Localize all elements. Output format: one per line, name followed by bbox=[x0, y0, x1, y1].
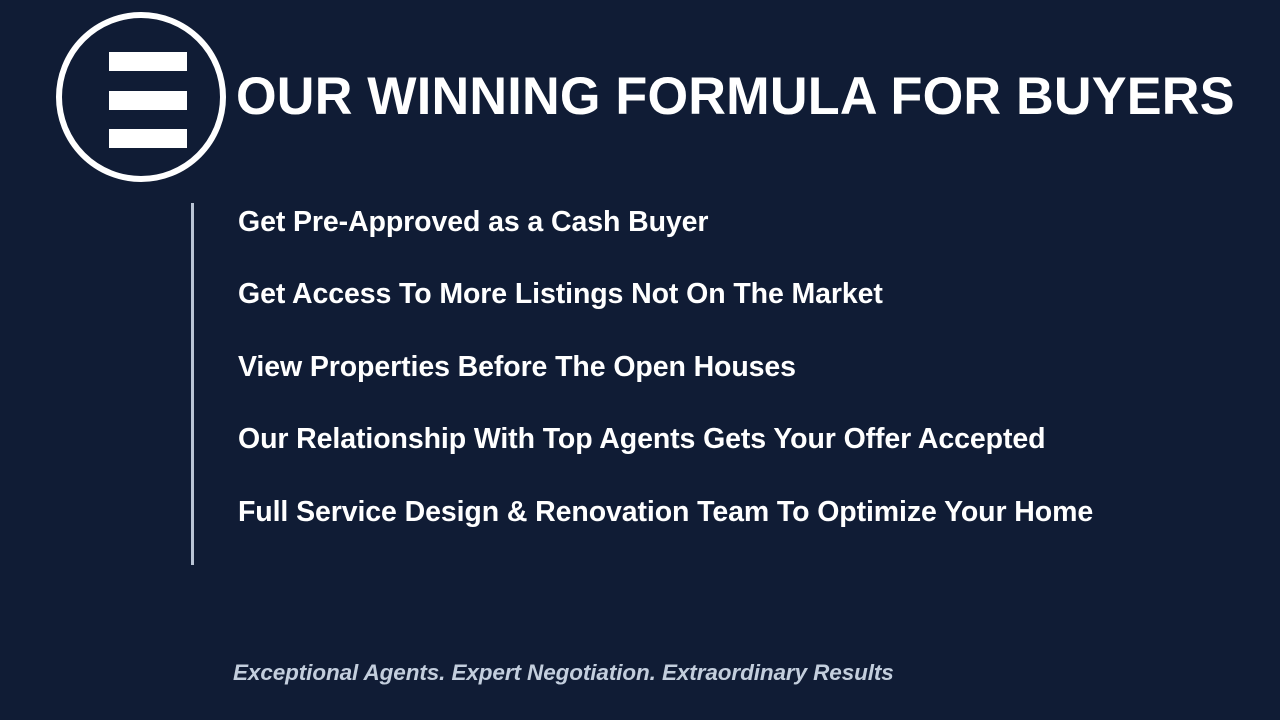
list-item-label: Get Pre-Approved as a Cash Buyer bbox=[238, 203, 708, 241]
logo-bar-bottom bbox=[109, 129, 187, 148]
vertical-rule-divider bbox=[191, 203, 194, 565]
list-item: View Properties Before The Open Houses bbox=[238, 348, 1228, 420]
list-item-label: Our Relationship With Top Agents Gets Yo… bbox=[238, 420, 1045, 458]
slide-header: OUR WINNING FORMULA FOR BUYERS bbox=[0, 0, 1280, 196]
list-item-label: Full Service Design & Renovation Team To… bbox=[238, 493, 1093, 531]
list-item: Get Access To More Listings Not On The M… bbox=[238, 275, 1228, 347]
list-item: Our Relationship With Top Agents Gets Yo… bbox=[238, 420, 1228, 492]
list-item-label: View Properties Before The Open Houses bbox=[238, 348, 796, 386]
logo-bar-top bbox=[109, 52, 187, 71]
benefits-list-items: Get Pre-Approved as a Cash Buyer Get Acc… bbox=[238, 203, 1228, 565]
list-item: Get Pre-Approved as a Cash Buyer bbox=[238, 203, 1228, 275]
three-bars-circle-logo-icon bbox=[56, 12, 226, 182]
slide-root: OUR WINNING FORMULA FOR BUYERS Get Pre-A… bbox=[0, 0, 1280, 720]
list-item-label: Get Access To More Listings Not On The M… bbox=[238, 275, 883, 313]
logo-bars-group bbox=[109, 52, 187, 148]
page-title: OUR WINNING FORMULA FOR BUYERS bbox=[236, 66, 1231, 128]
logo-bar-middle bbox=[109, 91, 187, 110]
benefits-list: Get Pre-Approved as a Cash Buyer Get Acc… bbox=[191, 203, 1231, 565]
list-item: Full Service Design & Renovation Team To… bbox=[238, 493, 1228, 565]
footer-tagline: Exceptional Agents. Expert Negotiation. … bbox=[233, 657, 894, 689]
